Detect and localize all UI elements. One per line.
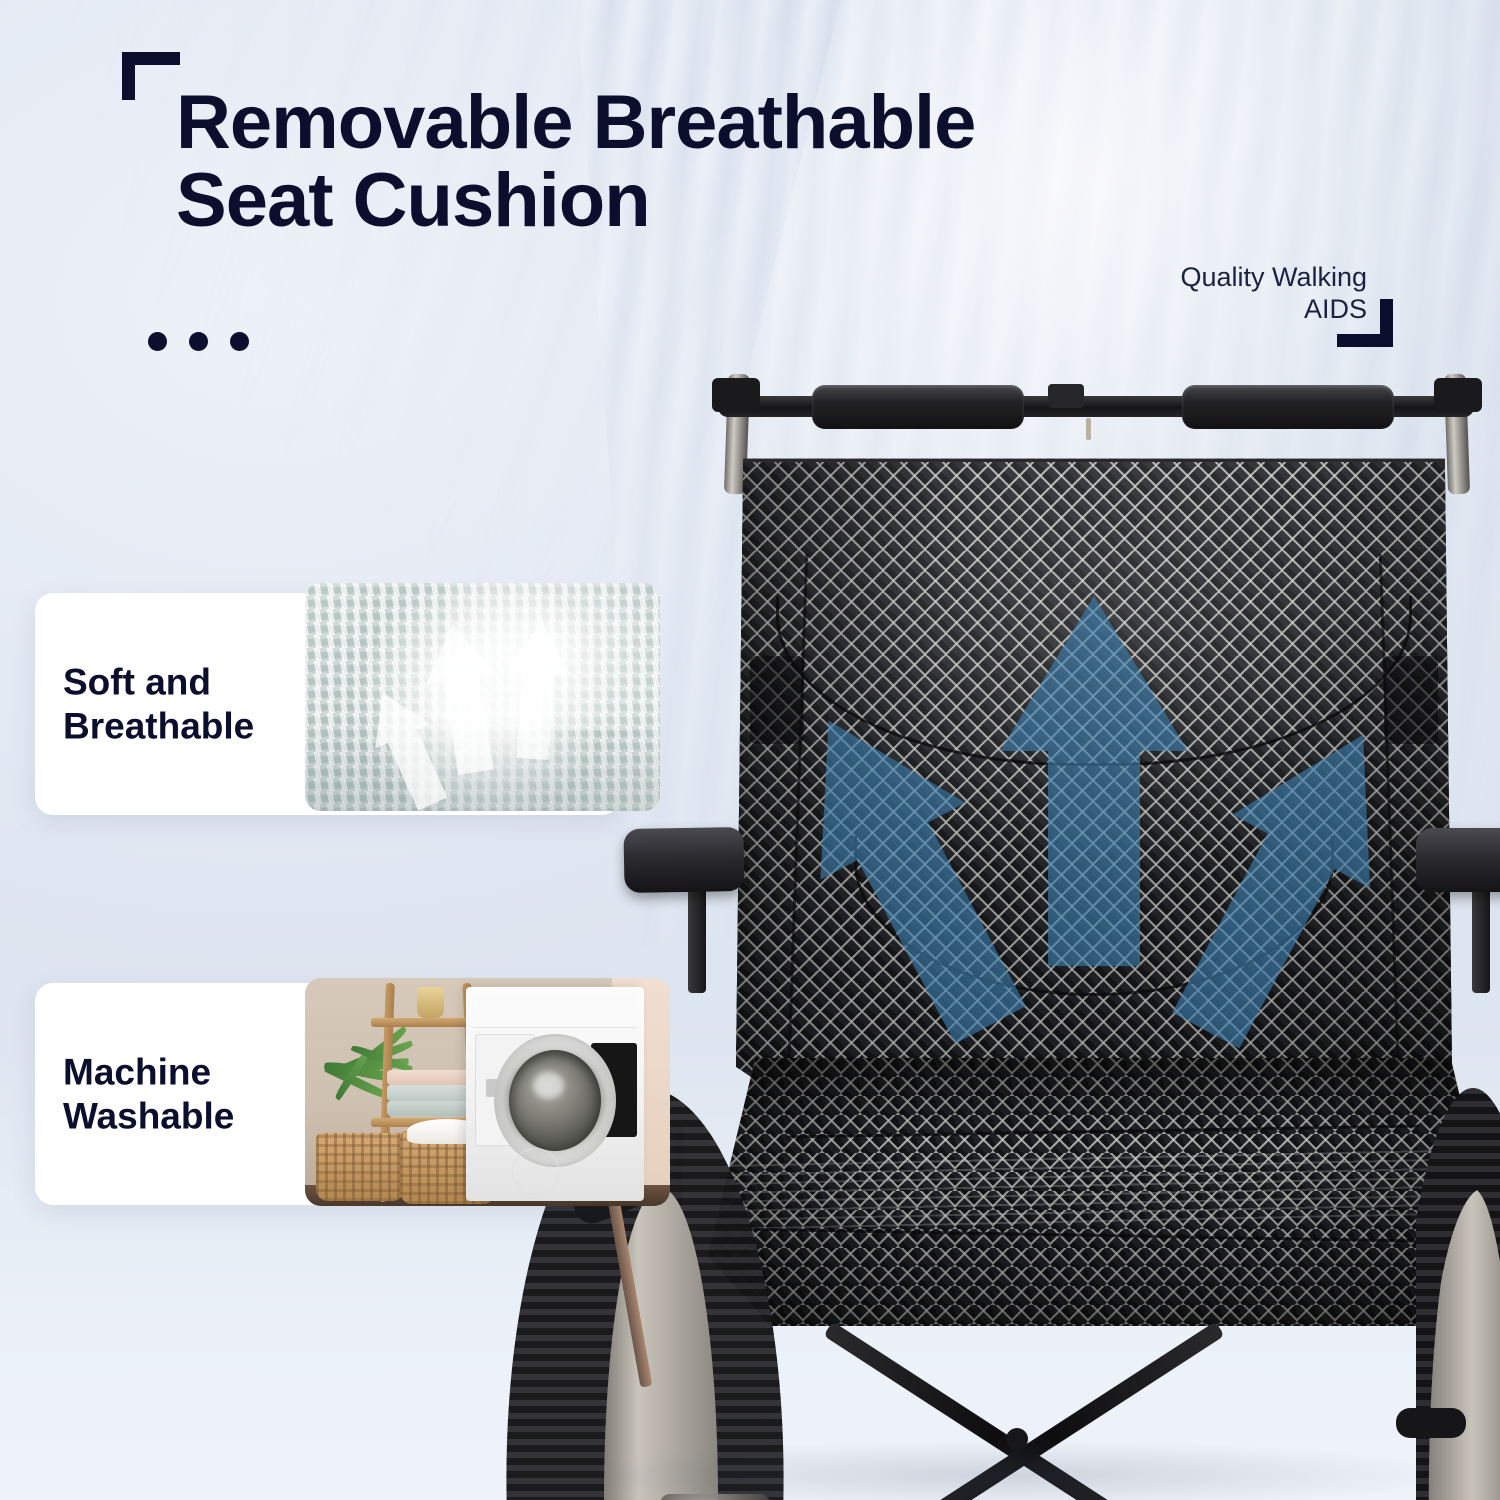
armrest-left <box>623 827 744 893</box>
feature-label-line-2: Washable <box>63 1095 234 1136</box>
white-airflow-arrow-3 <box>356 680 460 811</box>
wheel-lock-lever-right <box>1396 1408 1466 1438</box>
towel-green <box>387 1101 479 1116</box>
washer-control-panel <box>473 994 638 1028</box>
dot-2 <box>189 332 208 351</box>
feature-thumbnail-breathable-fabric <box>305 583 660 811</box>
dot-3 <box>230 332 249 351</box>
push-handle-grip-left <box>812 385 1024 429</box>
feature-label-line-1: Soft and <box>63 661 211 702</box>
brand-tagline-line-1: Quality Walking <box>1067 262 1367 294</box>
corner-bracket-top-left-icon <box>122 52 180 100</box>
frame-clamp-left <box>712 378 760 412</box>
page-title-line-2: Seat Cushion <box>176 162 1296 240</box>
frame-clamp-right <box>1434 378 1482 412</box>
feature-card-label: Machine Washable <box>63 1050 303 1137</box>
handle-center-clip <box>1048 384 1084 408</box>
foam-fabric-texture <box>305 583 660 811</box>
washer-door-glass <box>509 1050 601 1151</box>
feature-label-line-2: Breathable <box>63 705 254 746</box>
towel-beige <box>387 1070 479 1085</box>
seat-back-cushion <box>736 446 1452 1086</box>
feature-label-line-1: Machine <box>63 1051 211 1092</box>
washer-door <box>494 1034 616 1167</box>
poster-canvas: Removable Breathable Seat Cushion Qualit… <box>0 0 1500 1500</box>
feature-card-label: Soft and Breathable <box>63 660 303 747</box>
backrest-hook <box>1086 418 1091 440</box>
seat-shading <box>708 1058 1498 1326</box>
white-airflow-arrow-2 <box>500 619 573 761</box>
corner-bracket-bottom-right-icon <box>1337 299 1393 347</box>
woven-plant-basket <box>316 1133 404 1201</box>
brass-vase <box>417 987 443 1018</box>
decorative-dots <box>148 332 249 351</box>
seat-cushion <box>708 1058 1498 1326</box>
brand-tagline: Quality Walking AIDS <box>1067 262 1367 326</box>
armrest-right <box>1416 828 1500 892</box>
washer-filter-cover <box>512 1148 558 1195</box>
dot-1 <box>148 332 167 351</box>
backrest-side-pocket-left <box>750 656 804 744</box>
white-airflow-arrow-1 <box>417 618 512 777</box>
page-title: Removable Breathable Seat Cushion <box>176 84 1296 239</box>
feature-thumbnail-laundry-room <box>305 978 670 1206</box>
product-ground-shadow <box>560 1440 1460 1500</box>
backrest-top-binding <box>736 446 1452 462</box>
page-title-line-1: Removable Breathable <box>176 80 975 165</box>
washing-machine <box>466 987 645 1201</box>
backrest-side-pocket-right <box>1384 656 1438 744</box>
towel-gray <box>387 1085 479 1100</box>
push-handle-grip-right <box>1182 385 1394 429</box>
laundry-scene <box>305 978 670 1206</box>
brand-tagline-line-2: AIDS <box>1067 294 1367 326</box>
product-wheelchair-image <box>540 368 1500 1500</box>
